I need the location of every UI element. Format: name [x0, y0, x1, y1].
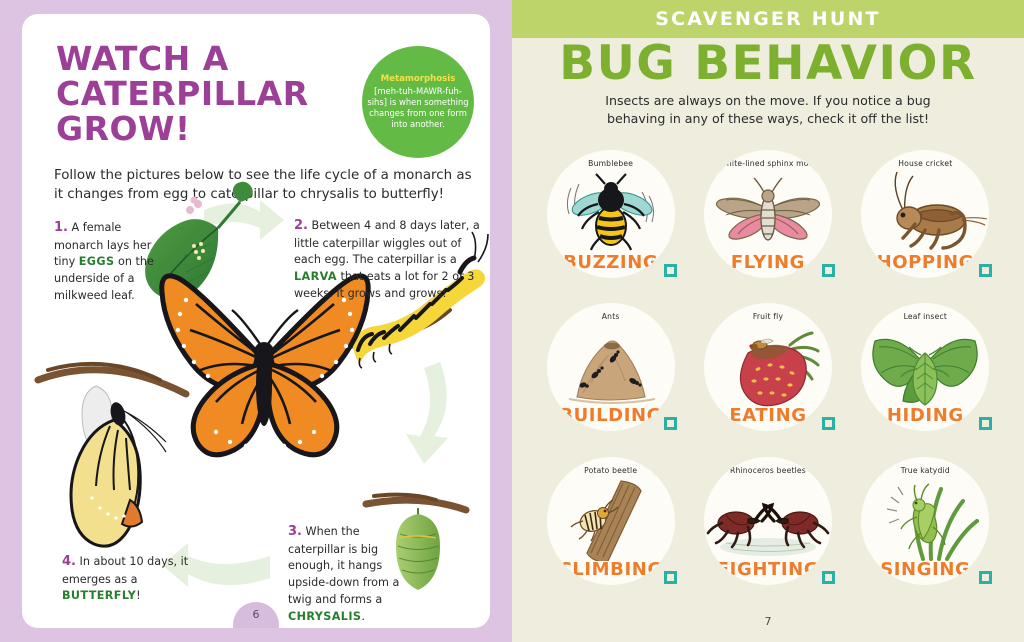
- behavior-cell-flying[interactable]: White-lined sphinx moth: [689, 146, 846, 299]
- checkbox-flying[interactable]: [822, 264, 835, 277]
- behavior-grid: Bumblebee: [532, 146, 1004, 606]
- behavior-cell-singing[interactable]: True katydid: [847, 453, 1004, 606]
- step-4-highlight: BUTTERFLY: [62, 589, 136, 602]
- page-number-right: 7: [512, 615, 1024, 628]
- katydid-icon: [861, 477, 989, 561]
- left-page: WATCH A CATERPILLAR GROW! Metamorphosis …: [0, 0, 512, 642]
- behavior-cell-fighting[interactable]: Rhinoceros beetles: [689, 453, 846, 606]
- potato-beetle-icon: [547, 477, 675, 561]
- adult-monarch-butterfly: [162, 276, 368, 455]
- behavior-label: HIDING: [861, 405, 989, 426]
- species-label: Bumblebee: [547, 159, 675, 169]
- step-3-text-before: When the caterpillar is big enough, it h…: [288, 525, 399, 606]
- checkbox-climbing[interactable]: [664, 571, 677, 584]
- left-page-paper: WATCH A CATERPILLAR GROW! Metamorphosis …: [22, 14, 490, 628]
- checkbox-hiding[interactable]: [979, 417, 992, 430]
- banner-label: SCAVENGER HUNT: [655, 8, 880, 30]
- behavior-disc: Bumblebee: [547, 150, 675, 278]
- rhino-beetles-icon: [704, 477, 832, 561]
- species-label: White-lined sphinx moth: [704, 159, 832, 169]
- behavior-cell-eating[interactable]: Fruit fly: [689, 299, 846, 452]
- checkbox-singing[interactable]: [979, 571, 992, 584]
- behavior-disc: Leaf insect: [861, 303, 989, 431]
- behavior-label: CLIMBING: [547, 559, 675, 580]
- species-label: Leaf insect: [861, 312, 989, 322]
- step-4: 4. In about 10 days, it emerges as a BUT…: [62, 552, 212, 605]
- right-page-subtitle: Insects are always on the move. If you n…: [584, 92, 952, 129]
- step-2-number: 2.: [294, 218, 308, 233]
- behavior-label: EATING: [704, 405, 832, 426]
- step-2: 2. Between 4 and 8 days later, a little …: [294, 216, 484, 303]
- behavior-disc: White-lined sphinx moth: [704, 150, 832, 278]
- behavior-cell-climbing[interactable]: Potato beetle: [532, 453, 689, 606]
- behavior-label: BUZZING: [547, 252, 675, 273]
- species-label: House cricket: [861, 159, 989, 169]
- step-2-text-before: Between 4 and 8 days later, a little cat…: [294, 219, 480, 266]
- behavior-disc: Fruit fly: [704, 303, 832, 431]
- strawberry-fruitfly-icon: [704, 323, 832, 407]
- checkbox-buzzing[interactable]: [664, 264, 677, 277]
- lifecycle-illustration: [22, 14, 490, 628]
- behavior-disc: House cricket: [861, 150, 989, 278]
- behavior-label: FLYING: [704, 252, 832, 273]
- step-2-highlight: LARVA: [294, 270, 337, 283]
- cycle-arrow-2: [406, 362, 448, 464]
- emerging-butterfly-from-chrysalis: [38, 364, 186, 546]
- behavior-disc: Potato beetle: [547, 457, 675, 585]
- right-page: SCAVENGER HUNT BUG BEHAVIOR Insects are …: [512, 0, 1024, 642]
- checkbox-fighting[interactable]: [822, 571, 835, 584]
- house-cricket-icon: [861, 170, 989, 254]
- behavior-cell-hopping[interactable]: House cricket: [847, 146, 1004, 299]
- step-3-highlight: CHRYSALIS: [288, 610, 361, 623]
- behavior-disc: Rhinoceros beetles: [704, 457, 832, 585]
- behavior-disc: Ants: [547, 303, 675, 431]
- behavior-label: BUILDING: [547, 405, 675, 426]
- sound-lines: [887, 487, 903, 523]
- step-3: 3. When the caterpillar is big enough, i…: [288, 522, 408, 625]
- behavior-label: FIGHTING: [704, 559, 832, 580]
- right-page-title: BUG BEHAVIOR: [512, 40, 1024, 87]
- species-label: True katydid: [861, 466, 989, 476]
- behavior-label: SINGING: [861, 559, 989, 580]
- step-1: 1. A female monarch lays her tiny EGGS o…: [54, 218, 174, 305]
- behavior-cell-hiding[interactable]: Leaf insect: [847, 299, 1004, 452]
- book-spread: WATCH A CATERPILLAR GROW! Metamorphosis …: [0, 0, 1024, 642]
- behavior-disc: True katydid: [861, 457, 989, 585]
- step-4-text-before: In about 10 days, it emerges as a: [62, 555, 188, 586]
- leaf-insect-icon: [861, 323, 989, 407]
- species-label: Rhinoceros beetles: [704, 466, 832, 476]
- behavior-label: HOPPING: [861, 252, 989, 273]
- checkbox-building[interactable]: [664, 417, 677, 430]
- behavior-cell-building[interactable]: Ants: [532, 299, 689, 452]
- behavior-cell-buzzing[interactable]: Bumblebee: [532, 146, 689, 299]
- species-label: Ants: [547, 312, 675, 322]
- species-label: Fruit fly: [704, 312, 832, 322]
- species-label: Potato beetle: [547, 466, 675, 476]
- ant-mound-icon: [547, 323, 675, 407]
- step-1-number: 1.: [54, 220, 68, 235]
- sphinx-moth-icon: [704, 170, 832, 254]
- step-3-text-after: .: [361, 610, 365, 623]
- step-4-text-after: !: [136, 589, 141, 602]
- bumblebee-icon: [547, 170, 675, 254]
- scavenger-hunt-banner: SCAVENGER HUNT: [512, 0, 1024, 38]
- step-1-highlight: EGGS: [79, 255, 115, 268]
- checkbox-eating[interactable]: [822, 417, 835, 430]
- checkbox-hopping[interactable]: [979, 264, 992, 277]
- step-3-number: 3.: [288, 524, 302, 539]
- step-4-number: 4.: [62, 554, 76, 569]
